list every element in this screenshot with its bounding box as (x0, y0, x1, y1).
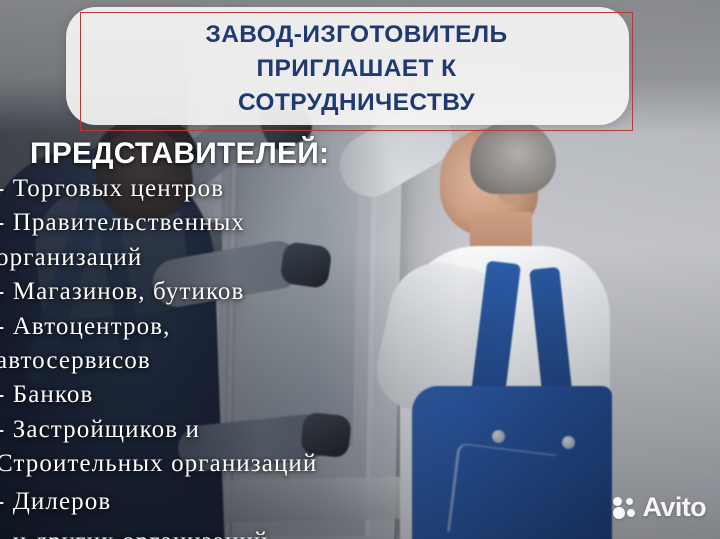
list-item: - Автоцентров, (0, 310, 416, 344)
representatives-list: - Торговых центров - Правительственных о… (0, 172, 416, 539)
list-item: - Торговых центров (0, 172, 416, 206)
page-title: ПРЕДСТАВИТЕЛЕЙ: (30, 137, 329, 171)
list-item: - и других организаций (0, 522, 416, 539)
header-banner-headline: ЗАВОД-ИЗГОТОВИТЕЛЬ ПРИГЛАШАЕТ К СОТРУДНИ… (80, 18, 633, 120)
list-item: Строительных организаций (0, 447, 416, 481)
avito-dots-icon (613, 497, 637, 519)
avito-watermark: Avito (613, 492, 707, 523)
list-item: - Магазинов, бутиков (0, 275, 416, 309)
list-item: - Правительственных (0, 206, 416, 240)
list-item: организаций (0, 241, 416, 275)
list-item: - Застройщиков и (0, 413, 416, 447)
list-item: - Банков (0, 378, 416, 412)
list-item: - Дилеров (0, 482, 416, 522)
advertisement-image: ЗАВОД-ИЗГОТОВИТЕЛЬ ПРИГЛАШАЕТ К СОТРУДНИ… (0, 0, 720, 539)
list-item: автосервисов (0, 344, 416, 378)
avito-wordmark: Avito (643, 492, 707, 523)
